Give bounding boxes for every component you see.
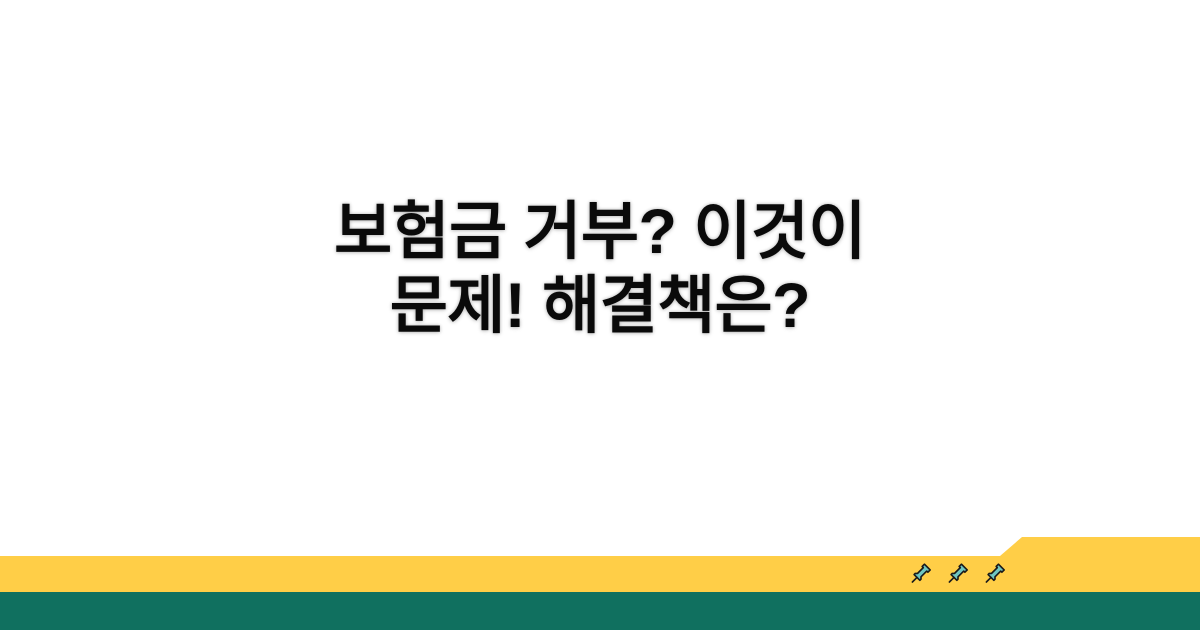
footer-decoration: [0, 530, 1200, 630]
pushpin-icon: [982, 562, 1008, 588]
headline-container: 보험금 거부? 이것이 문제! 해결책은?: [0, 0, 1200, 540]
pin-icon-row: [908, 559, 1008, 591]
yellow-band: [0, 537, 1200, 592]
thumbnail-card: 보험금 거부? 이것이 문제! 해결책은?: [0, 0, 1200, 630]
footer-band-shape: [0, 530, 1200, 630]
page-title: 보험금 거부? 이것이 문제! 해결책은?: [334, 196, 866, 343]
pushpin-icon: [945, 562, 971, 588]
teal-band: [0, 592, 1200, 630]
pushpin-icon: [908, 562, 934, 588]
